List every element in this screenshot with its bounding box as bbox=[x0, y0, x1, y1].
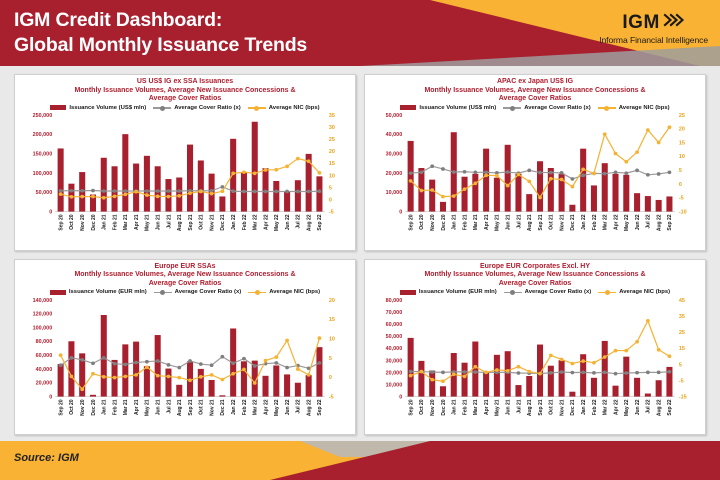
bar bbox=[612, 385, 618, 396]
x-axis-tick-label: Jun 22 bbox=[285, 399, 291, 415]
svg-text:50,000: 50,000 bbox=[386, 113, 403, 119]
logo-wordmark: IGM bbox=[622, 13, 659, 33]
legend-line-swatch-nic bbox=[598, 290, 616, 295]
bar bbox=[58, 364, 64, 396]
bar bbox=[602, 340, 608, 396]
bar bbox=[295, 180, 301, 211]
svg-text:0: 0 bbox=[49, 394, 52, 400]
x-axis-tick-label: Dec 20 bbox=[91, 399, 97, 415]
bar bbox=[122, 134, 128, 211]
legend-label: Issuance Volume (EUR mln) bbox=[419, 289, 497, 295]
svg-text:-10: -10 bbox=[679, 210, 687, 216]
x-axis-tick-label: May 22 bbox=[274, 214, 280, 231]
chart-legend: Issuance Volume (EUR mln) Average Cover … bbox=[369, 289, 701, 295]
svg-text:40,000: 40,000 bbox=[36, 367, 53, 373]
x-axis-tick-label: Jun 21 bbox=[505, 214, 511, 230]
svg-text:40,000: 40,000 bbox=[386, 346, 403, 352]
svg-text:140,000: 140,000 bbox=[33, 297, 53, 303]
x-axis-tick-label: Jul 22 bbox=[646, 214, 652, 228]
x-axis-tick-label: Dec 20 bbox=[91, 214, 97, 230]
bar bbox=[252, 122, 258, 212]
svg-text:60,000: 60,000 bbox=[36, 353, 53, 359]
bar bbox=[440, 386, 446, 396]
svg-text:15: 15 bbox=[329, 161, 335, 167]
legend-label: Average Cover Ratio (x) bbox=[174, 105, 241, 111]
bar bbox=[494, 178, 500, 212]
x-axis-tick-label: Jan 22 bbox=[231, 214, 237, 230]
legend-label: Average NIC (bps) bbox=[619, 289, 670, 295]
x-axis-tick-label: Aug 21 bbox=[527, 214, 533, 231]
x-axis-tick-label: Aug 21 bbox=[177, 399, 183, 416]
x-axis-tick-label: May 21 bbox=[495, 399, 501, 416]
bar bbox=[144, 156, 150, 212]
bar bbox=[526, 375, 532, 396]
bar bbox=[602, 163, 608, 211]
x-axis-tick-label: Apr 22 bbox=[263, 399, 269, 415]
svg-text:0: 0 bbox=[329, 375, 332, 381]
chart-header: US US$ IG ex SSA Issuances Monthly Issua… bbox=[15, 75, 355, 111]
x-axis-tick-label: Feb 22 bbox=[592, 214, 598, 230]
bar bbox=[241, 361, 247, 396]
x-axis-tick-label: Mar 21 bbox=[123, 399, 129, 415]
svg-text:15: 15 bbox=[679, 141, 685, 147]
bar bbox=[122, 344, 128, 396]
legend-line-swatch-cover bbox=[504, 290, 522, 295]
legend-item-issuance-volume: Issuance Volume (US$ mln) bbox=[400, 105, 496, 111]
bar bbox=[569, 205, 575, 212]
chart-legend: Issuance Volume (US$ mln) Average Cover … bbox=[19, 105, 351, 111]
bar bbox=[101, 314, 107, 396]
page-footer: Source: IGM bbox=[0, 441, 720, 480]
x-axis-tick-label: Nov 20 bbox=[80, 399, 86, 416]
x-axis-tick-label: Nov 21 bbox=[559, 214, 565, 231]
x-axis-tick-label: Mar 22 bbox=[602, 399, 608, 415]
legend-bar-swatch bbox=[400, 105, 416, 110]
x-axis-tick-label: Jan 22 bbox=[581, 214, 587, 230]
legend-item-nic: Average NIC (bps) bbox=[248, 105, 320, 111]
charts-grid: US US$ IG ex SSA Issuances Monthly Issua… bbox=[0, 66, 720, 441]
legend-label: Average NIC (bps) bbox=[619, 105, 670, 111]
x-axis-tick-label: Jun 22 bbox=[635, 399, 641, 415]
bar bbox=[494, 354, 500, 396]
chart-subtitle-line1: Monthly Issuance Volumes, Average New Is… bbox=[369, 271, 701, 280]
bar bbox=[262, 375, 268, 396]
x-axis-tick-label: Oct 20 bbox=[69, 399, 75, 414]
bar bbox=[316, 347, 322, 396]
x-axis-tick-label: Jun 22 bbox=[285, 214, 291, 230]
svg-text:5: 5 bbox=[679, 168, 682, 174]
bar bbox=[591, 185, 597, 211]
bar bbox=[548, 168, 554, 212]
bar bbox=[483, 372, 489, 396]
x-axis-tick-label: Sep 22 bbox=[317, 214, 323, 230]
x-axis-tick-label: Sep 21 bbox=[188, 214, 194, 230]
bar bbox=[155, 166, 161, 211]
plot-area: 010,00020,00030,00040,00050,000-10-50510… bbox=[365, 111, 705, 250]
x-axis-tick-label: May 21 bbox=[495, 214, 501, 231]
svg-text:200,000: 200,000 bbox=[33, 132, 53, 138]
svg-text:5: 5 bbox=[679, 362, 682, 368]
x-axis-tick-label: May 21 bbox=[145, 399, 151, 416]
x-axis-tick-label: Nov 21 bbox=[209, 399, 215, 416]
x-axis-tick-label: Sep 20 bbox=[408, 214, 414, 230]
x-axis-tick-label: Dec 21 bbox=[570, 399, 576, 415]
bar bbox=[526, 194, 532, 211]
bar bbox=[418, 360, 424, 396]
svg-text:50,000: 50,000 bbox=[386, 334, 403, 340]
bar bbox=[198, 160, 204, 211]
svg-text:10: 10 bbox=[679, 154, 685, 160]
svg-text:-15: -15 bbox=[679, 394, 687, 400]
svg-text:100,000: 100,000 bbox=[33, 325, 53, 331]
chart-header: Europe EUR SSAs Monthly Issuance Volumes… bbox=[15, 260, 355, 296]
x-axis-tick-label: May 22 bbox=[274, 399, 280, 416]
bar bbox=[666, 196, 672, 211]
svg-text:60,000: 60,000 bbox=[386, 322, 403, 328]
x-axis-tick-label: Sep 20 bbox=[408, 399, 414, 415]
legend-bar-swatch bbox=[400, 290, 416, 295]
svg-text:250,000: 250,000 bbox=[33, 113, 53, 119]
plot-area: 020,00040,00060,00080,000100,000120,0001… bbox=[15, 296, 355, 435]
svg-text:30,000: 30,000 bbox=[386, 152, 403, 158]
x-axis-tick-label: Mar 21 bbox=[473, 399, 479, 415]
x-axis-tick-label: Jun 21 bbox=[155, 214, 161, 230]
legend-item-nic: Average NIC (bps) bbox=[598, 289, 670, 295]
bar bbox=[90, 394, 96, 396]
x-axis-tick-label: Nov 20 bbox=[80, 214, 86, 231]
x-axis-tick-label: Mar 22 bbox=[252, 214, 258, 230]
x-axis-tick-label: Jul 21 bbox=[166, 214, 172, 228]
x-axis-tick-label: Jul 21 bbox=[166, 399, 172, 413]
svg-text:25: 25 bbox=[329, 137, 335, 143]
x-axis-tick-label: Sep 22 bbox=[667, 399, 673, 415]
bar bbox=[472, 174, 478, 212]
legend-label: Average Cover Ratio (x) bbox=[525, 289, 592, 295]
x-axis-tick-label: Apr 21 bbox=[134, 399, 140, 415]
bar bbox=[273, 181, 279, 212]
x-axis-tick-label: Oct 20 bbox=[69, 214, 75, 229]
chart-panel-europe-eur-ssas[interactable]: Europe EUR SSAs Monthly Issuance Volumes… bbox=[14, 259, 356, 436]
legend-item-cover-ratio: Average Cover Ratio (x) bbox=[503, 105, 591, 111]
chart-legend: Issuance Volume (US$ mln) Average Cover … bbox=[369, 105, 701, 111]
bar bbox=[198, 368, 204, 396]
x-axis-tick-label: Sep 22 bbox=[317, 399, 323, 415]
x-axis-tick-label: Apr 21 bbox=[484, 214, 490, 230]
x-axis-tick-label: Feb 21 bbox=[462, 399, 468, 415]
x-axis-tick-label: Apr 22 bbox=[613, 399, 619, 415]
legend-line-swatch-nic bbox=[598, 105, 616, 110]
legend-label: Issuance Volume (US$ mln) bbox=[69, 105, 146, 111]
bar bbox=[645, 196, 651, 211]
chart-subtitle-line2: Average Cover Ratios bbox=[19, 280, 351, 289]
bar bbox=[112, 166, 118, 211]
svg-text:80,000: 80,000 bbox=[36, 339, 53, 345]
svg-text:-5: -5 bbox=[329, 394, 334, 400]
bar bbox=[306, 375, 312, 396]
bar bbox=[612, 174, 618, 212]
page-header: IGM Credit Dashboard: Global Monthly Iss… bbox=[0, 0, 720, 66]
chart-title: APAC ex Japan US$ IG bbox=[369, 78, 701, 87]
x-axis-tick-label: Jul 21 bbox=[516, 214, 522, 228]
bar bbox=[144, 366, 150, 396]
bar bbox=[273, 365, 279, 396]
x-axis-tick-label: Dec 20 bbox=[441, 399, 447, 415]
legend-bar-swatch bbox=[50, 105, 66, 110]
dashboard-page: IGM Credit Dashboard: Global Monthly Iss… bbox=[0, 0, 720, 480]
bar bbox=[623, 175, 629, 212]
x-axis-tick-label: Dec 21 bbox=[220, 399, 226, 415]
x-axis-tick-label: Feb 22 bbox=[592, 399, 598, 415]
svg-text:0: 0 bbox=[49, 210, 52, 216]
bar bbox=[230, 139, 236, 212]
legend-item-issuance-volume: Issuance Volume (EUR mln) bbox=[50, 289, 147, 295]
legend-line-swatch-nic bbox=[248, 290, 266, 295]
bar bbox=[515, 385, 521, 396]
x-axis-tick-label: Sep 22 bbox=[667, 214, 673, 230]
x-axis-tick-label: Nov 21 bbox=[559, 399, 565, 416]
bar bbox=[219, 196, 225, 211]
legend-bar-swatch bbox=[50, 290, 66, 295]
svg-text:20: 20 bbox=[329, 297, 335, 303]
svg-text:15: 15 bbox=[329, 317, 335, 323]
svg-text:70,000: 70,000 bbox=[386, 310, 403, 316]
x-axis-tick-label: Jul 22 bbox=[296, 399, 302, 413]
x-axis-tick-label: Sep 21 bbox=[538, 214, 544, 230]
svg-text:120,000: 120,000 bbox=[33, 311, 53, 317]
x-axis-tick-label: Aug 22 bbox=[656, 214, 662, 231]
svg-text:45: 45 bbox=[679, 297, 685, 303]
x-axis-tick-label: Oct 20 bbox=[419, 399, 425, 414]
x-axis-tick-label: Jun 22 bbox=[635, 214, 641, 230]
x-axis-tick-label: Sep 21 bbox=[188, 399, 194, 415]
legend-label: Average Cover Ratio (x) bbox=[524, 105, 591, 111]
bar bbox=[548, 365, 554, 396]
x-axis-tick-label: Dec 21 bbox=[220, 214, 226, 230]
x-axis-tick-label: Jul 21 bbox=[516, 399, 522, 413]
svg-text:0: 0 bbox=[399, 394, 402, 400]
bar bbox=[440, 202, 446, 212]
chart-subtitle-line1: Monthly Issuance Volumes, Average New Is… bbox=[369, 87, 701, 96]
x-axis-tick-label: Jun 21 bbox=[155, 399, 161, 415]
x-axis-tick-label: Jan 21 bbox=[101, 399, 107, 415]
legend-line-swatch-cover bbox=[503, 105, 521, 110]
bar bbox=[656, 380, 662, 396]
chart-panel-europe-eur-corporates[interactable]: Europe EUR Corporates Excl. HY Monthly I… bbox=[364, 259, 706, 436]
bar bbox=[133, 341, 139, 396]
legend-label: Issuance Volume (US$ mln) bbox=[419, 105, 496, 111]
chart-subtitle-line2: Average Cover Ratios bbox=[19, 95, 351, 104]
x-axis-tick-label: Dec 21 bbox=[570, 214, 576, 230]
svg-text:-5: -5 bbox=[679, 378, 684, 384]
x-axis-tick-label: Jan 22 bbox=[581, 399, 587, 415]
bar bbox=[634, 193, 640, 211]
chart-header: APAC ex Japan US$ IG Monthly Issuance Vo… bbox=[365, 75, 705, 111]
bar bbox=[505, 145, 511, 212]
x-axis-tick-label: Nov 20 bbox=[430, 399, 436, 416]
bar bbox=[569, 391, 575, 396]
bar bbox=[284, 191, 290, 212]
svg-text:150,000: 150,000 bbox=[33, 152, 53, 158]
svg-text:20,000: 20,000 bbox=[386, 370, 403, 376]
svg-text:20,000: 20,000 bbox=[36, 380, 53, 386]
bar bbox=[68, 341, 74, 396]
x-axis-tick-label: Oct 21 bbox=[549, 214, 555, 229]
x-axis-tick-label: Feb 21 bbox=[112, 214, 118, 230]
svg-text:0: 0 bbox=[399, 210, 402, 216]
x-axis-tick-label: Dec 20 bbox=[441, 214, 447, 230]
svg-text:-5: -5 bbox=[329, 210, 334, 216]
legend-item-nic: Average NIC (bps) bbox=[248, 289, 320, 295]
chart-panel-apac-ex-japan-ig[interactable]: APAC ex Japan US$ IG Monthly Issuance Vo… bbox=[364, 74, 706, 251]
chart-subtitle-line2: Average Cover Ratios bbox=[369, 95, 701, 104]
x-axis-tick-label: Jan 21 bbox=[451, 214, 457, 230]
chevron-right-icon bbox=[663, 12, 685, 33]
svg-text:35: 35 bbox=[329, 113, 335, 119]
page-title: IGM Credit Dashboard: Global Monthly Iss… bbox=[14, 8, 307, 58]
x-axis-tick-label: Jul 22 bbox=[646, 399, 652, 413]
legend-line-swatch-nic bbox=[248, 105, 266, 110]
x-axis-tick-label: Jan 21 bbox=[101, 214, 107, 230]
x-axis-tick-label: Apr 22 bbox=[613, 214, 619, 230]
svg-text:30: 30 bbox=[329, 125, 335, 131]
bar bbox=[176, 384, 182, 396]
x-axis-tick-label: Jan 22 bbox=[231, 399, 237, 415]
chart-header: Europe EUR Corporates Excl. HY Monthly I… bbox=[365, 260, 705, 296]
bar bbox=[295, 382, 301, 396]
svg-text:80,000: 80,000 bbox=[386, 297, 403, 303]
svg-text:10: 10 bbox=[329, 173, 335, 179]
bar bbox=[219, 395, 225, 396]
legend-line-swatch-cover bbox=[154, 290, 172, 295]
x-axis-tick-label: Aug 22 bbox=[306, 399, 312, 416]
x-axis-tick-label: May 22 bbox=[624, 214, 630, 231]
bar bbox=[483, 149, 489, 212]
svg-text:20,000: 20,000 bbox=[386, 171, 403, 177]
plot-area: 010,00020,00030,00040,00050,00060,00070,… bbox=[365, 296, 705, 435]
bar bbox=[133, 164, 139, 212]
x-axis-tick-label: Oct 21 bbox=[199, 214, 205, 229]
x-axis-tick-label: Nov 20 bbox=[430, 214, 436, 231]
x-axis-tick-label: Feb 21 bbox=[462, 214, 468, 230]
bar bbox=[634, 377, 640, 396]
svg-text:5: 5 bbox=[329, 185, 332, 191]
logo-tagline: Informa Financial Intelligence bbox=[599, 35, 708, 45]
igm-logo: IGM Informa Financial Intelligence bbox=[599, 12, 708, 45]
bar bbox=[58, 148, 64, 211]
svg-text:100,000: 100,000 bbox=[33, 171, 53, 177]
bar bbox=[155, 335, 161, 397]
svg-text:35: 35 bbox=[679, 314, 685, 320]
svg-text:50,000: 50,000 bbox=[36, 190, 53, 196]
bar bbox=[284, 374, 290, 396]
x-axis-tick-label: Nov 21 bbox=[209, 214, 215, 231]
x-axis-tick-label: Mar 21 bbox=[123, 214, 129, 230]
x-axis-tick-label: Aug 21 bbox=[177, 214, 183, 231]
bar bbox=[187, 145, 193, 212]
x-axis-tick-label: Sep 20 bbox=[58, 214, 64, 230]
bar bbox=[165, 368, 171, 396]
bar bbox=[408, 141, 414, 212]
legend-item-issuance-volume: Issuance Volume (EUR mln) bbox=[400, 289, 497, 295]
chart-subtitle-line1: Monthly Issuance Volumes, Average New Is… bbox=[19, 87, 351, 96]
svg-text:5: 5 bbox=[329, 355, 332, 361]
legend-label: Average NIC (bps) bbox=[269, 289, 320, 295]
bar bbox=[408, 337, 414, 396]
x-axis-tick-label: May 21 bbox=[145, 214, 151, 231]
x-axis-tick-label: May 22 bbox=[624, 399, 630, 416]
chart-panel-us-ig-ex-ssa[interactable]: US US$ IG ex SSA Issuances Monthly Issua… bbox=[14, 74, 356, 251]
x-axis-tick-label: Sep 21 bbox=[538, 399, 544, 415]
svg-text:40,000: 40,000 bbox=[386, 132, 403, 138]
svg-text:25: 25 bbox=[679, 113, 685, 119]
svg-text:20: 20 bbox=[329, 149, 335, 155]
legend-item-cover-ratio: Average Cover Ratio (x) bbox=[504, 289, 592, 295]
x-axis-tick-label: Aug 22 bbox=[656, 399, 662, 416]
bar bbox=[101, 158, 107, 212]
svg-text:30,000: 30,000 bbox=[386, 358, 403, 364]
legend-label: Issuance Volume (EUR mln) bbox=[69, 289, 147, 295]
legend-item-nic: Average NIC (bps) bbox=[598, 105, 670, 111]
bar bbox=[316, 176, 322, 211]
x-axis-tick-label: Oct 20 bbox=[419, 214, 425, 229]
svg-text:0: 0 bbox=[329, 198, 332, 204]
x-axis-tick-label: Apr 21 bbox=[484, 399, 490, 415]
chart-subtitle-line2: Average Cover Ratios bbox=[369, 280, 701, 289]
x-axis-tick-label: Jun 21 bbox=[505, 399, 511, 415]
x-axis-tick-label: Mar 21 bbox=[473, 214, 479, 230]
plot-area: 050,000100,000150,000200,000250,000-5051… bbox=[15, 111, 355, 250]
chart-title: US US$ IG ex SSA Issuances bbox=[19, 78, 351, 87]
svg-text:0: 0 bbox=[679, 182, 682, 188]
x-axis-tick-label: Mar 22 bbox=[252, 399, 258, 415]
svg-text:25: 25 bbox=[679, 330, 685, 336]
chart-subtitle-line1: Monthly Issuance Volumes, Average New Is… bbox=[19, 271, 351, 280]
legend-label: Average Cover Ratio (x) bbox=[175, 289, 242, 295]
svg-text:10,000: 10,000 bbox=[386, 190, 403, 196]
bar bbox=[580, 149, 586, 212]
bar bbox=[429, 370, 435, 396]
bar bbox=[209, 379, 215, 396]
legend-item-cover-ratio: Average Cover Ratio (x) bbox=[153, 105, 241, 111]
x-axis-tick-label: Feb 21 bbox=[112, 399, 118, 415]
bar bbox=[515, 174, 521, 212]
bar bbox=[429, 180, 435, 212]
bar bbox=[645, 393, 651, 396]
x-axis-tick-label: Aug 22 bbox=[306, 214, 312, 231]
svg-text:-5: -5 bbox=[679, 196, 684, 202]
x-axis-tick-label: Jan 21 bbox=[451, 399, 457, 415]
x-axis-tick-label: Oct 21 bbox=[199, 399, 205, 414]
x-axis-tick-label: Feb 22 bbox=[242, 214, 248, 230]
bar bbox=[559, 360, 565, 396]
svg-text:10,000: 10,000 bbox=[386, 382, 403, 388]
svg-text:10: 10 bbox=[329, 336, 335, 342]
chart-title: Europe EUR SSAs bbox=[19, 263, 351, 272]
svg-text:20: 20 bbox=[679, 127, 685, 133]
chart-title: Europe EUR Corporates Excl. HY bbox=[369, 263, 701, 272]
bar bbox=[656, 200, 662, 212]
legend-item-cover-ratio: Average Cover Ratio (x) bbox=[154, 289, 242, 295]
x-axis-tick-label: Oct 21 bbox=[549, 399, 555, 414]
bar bbox=[537, 161, 543, 211]
x-axis-tick-label: Jul 22 bbox=[296, 214, 302, 228]
bar bbox=[591, 377, 597, 396]
x-axis-tick-label: Mar 22 bbox=[602, 214, 608, 230]
legend-label: Average NIC (bps) bbox=[269, 105, 320, 111]
x-axis-tick-label: Aug 21 bbox=[527, 399, 533, 416]
chart-legend: Issuance Volume (EUR mln) Average Cover … bbox=[19, 289, 351, 295]
legend-item-issuance-volume: Issuance Volume (US$ mln) bbox=[50, 105, 146, 111]
